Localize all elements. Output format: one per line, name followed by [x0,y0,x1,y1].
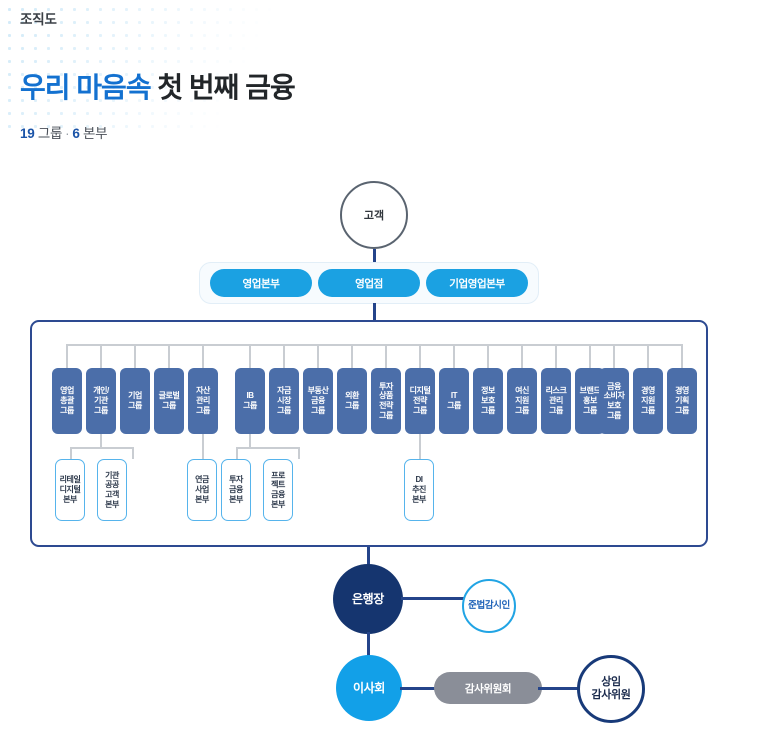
subconn-drop-public-client [132,447,134,459]
group-box-corporate[interactable]: 기업 그룹 [120,368,150,434]
subconn-drop-project-finance [298,447,300,459]
group-box-retail-institution[interactable]: 개인/ 기관 그룹 [86,368,116,434]
group-drop-0 [66,344,68,368]
group-box-ib[interactable]: IB 그룹 [235,368,265,434]
group-box-fx[interactable]: 외환 그룹 [337,368,367,434]
node-customer[interactable]: 고객 [340,181,408,249]
group-drop-5 [249,344,251,368]
group-box-asset-management[interactable]: 자산 관리 그룹 [188,368,218,434]
node-standing-auditor[interactable]: 상임 감사위원 [577,655,645,723]
group-drop-16 [613,344,615,368]
channel-pill-branch[interactable]: 영업점 [318,269,420,297]
group-box-capital-market[interactable]: 자금 시장 그룹 [269,368,299,434]
connector-board-to-audit-committee [400,687,438,690]
group-box-risk-management[interactable]: 리스크 관리 그룹 [541,368,571,434]
connector-audit-committee-to-auditor [538,687,580,690]
connector-customer-to-channels [373,249,376,263]
group-box-global[interactable]: 글로벌 그룹 [154,368,184,434]
org-chart-page: 조직도 우리 마음속 첫 번째 금융 19 그룹·6 본부 고객 영업본부 영업… [0,0,768,739]
group-box-management-support[interactable]: 경영 지원 그룹 [633,368,663,434]
group-drop-2 [134,344,136,368]
group-drop-15 [589,344,591,368]
group-drop-14 [555,344,557,368]
node-audit-committee[interactable]: 감사위원회 [434,672,542,704]
group-drop-1 [100,344,102,368]
group-box-info-security[interactable]: 정보 보호 그룹 [473,368,503,434]
group-drop-10 [419,344,421,368]
sub-box-retail-digital[interactable]: 리테일 디지털 본부 [55,459,85,521]
subconn-bar-retail [70,447,132,449]
group-drop-3 [168,344,170,368]
sub-box-investment-finance[interactable]: 투자 금융 본부 [221,459,251,521]
group-box-digital-strategy[interactable]: 디지털 전략 그룹 [405,368,435,434]
group-drop-6 [283,344,285,368]
subconn-stem-ib [249,434,251,448]
page-stats: 19 그룹·6 본부 [20,122,107,142]
subconn-drop-pension [202,434,204,459]
channel-pill-sales-hq[interactable]: 영업본부 [210,269,312,297]
group-box-real-estate-finance[interactable]: 부동산 금융 그룹 [303,368,333,434]
group-drop-7 [317,344,319,368]
node-president[interactable]: 은행장 [333,564,403,634]
page-title-rest: 첫 번째 금융 [151,72,295,103]
node-board-of-directors[interactable]: 이사회 [336,655,402,721]
stat-division-unit: 본부 [80,126,108,141]
stat-group-unit: 그룹 [34,126,62,141]
group-box-sales-general[interactable]: 영업 총괄 그룹 [52,368,82,434]
sub-box-project-finance[interactable]: 프로 젝트 금융 본부 [263,459,293,521]
group-drop-13 [521,344,523,368]
group-drop-9 [385,344,387,368]
subconn-stem-retail [100,434,102,448]
sub-box-di-promotion[interactable]: DI 추진 본부 [404,459,434,521]
sub-box-pension-business[interactable]: 연금 사업 본부 [187,459,217,521]
stat-group-count: 19 [20,126,34,141]
sub-box-public-institution[interactable]: 기관 공공 고객 본부 [97,459,127,521]
channel-band: 영업본부 영업점 기업영업본부 [199,262,539,304]
stat-division-count: 6 [72,126,79,141]
connector-president-to-compliance [401,597,464,600]
page-eyebrow: 조직도 [20,8,57,28]
group-drop-12 [487,344,489,368]
group-drop-18 [681,344,683,368]
subconn-drop-retail-digital [70,447,72,459]
group-box-credit-support[interactable]: 여신 지원 그룹 [507,368,537,434]
group-box-it[interactable]: IT 그룹 [439,368,469,434]
subconn-drop-di [419,434,421,459]
channel-pill-corp-sales[interactable]: 기업영업본부 [426,269,528,297]
stat-separator: · [62,126,72,141]
group-drop-4 [202,344,204,368]
group-drop-17 [647,344,649,368]
group-box-consumer-protection[interactable]: 금융 소비자 보호 그룹 [599,368,629,434]
node-compliance-officer[interactable]: 준법감시인 [462,579,516,633]
subconn-drop-investment-finance [236,447,238,459]
group-drop-8 [351,344,353,368]
connector-channels-to-groups [373,303,376,321]
group-box-investment-product[interactable]: 투자 상품 전략 그룹 [371,368,401,434]
page-title: 우리 마음속 첫 번째 금융 [20,66,295,106]
group-box-management-planning[interactable]: 경영 기획 그룹 [667,368,697,434]
page-title-accent: 우리 마음속 [20,72,151,103]
group-drop-11 [453,344,455,368]
subconn-bar-ib [236,447,298,449]
